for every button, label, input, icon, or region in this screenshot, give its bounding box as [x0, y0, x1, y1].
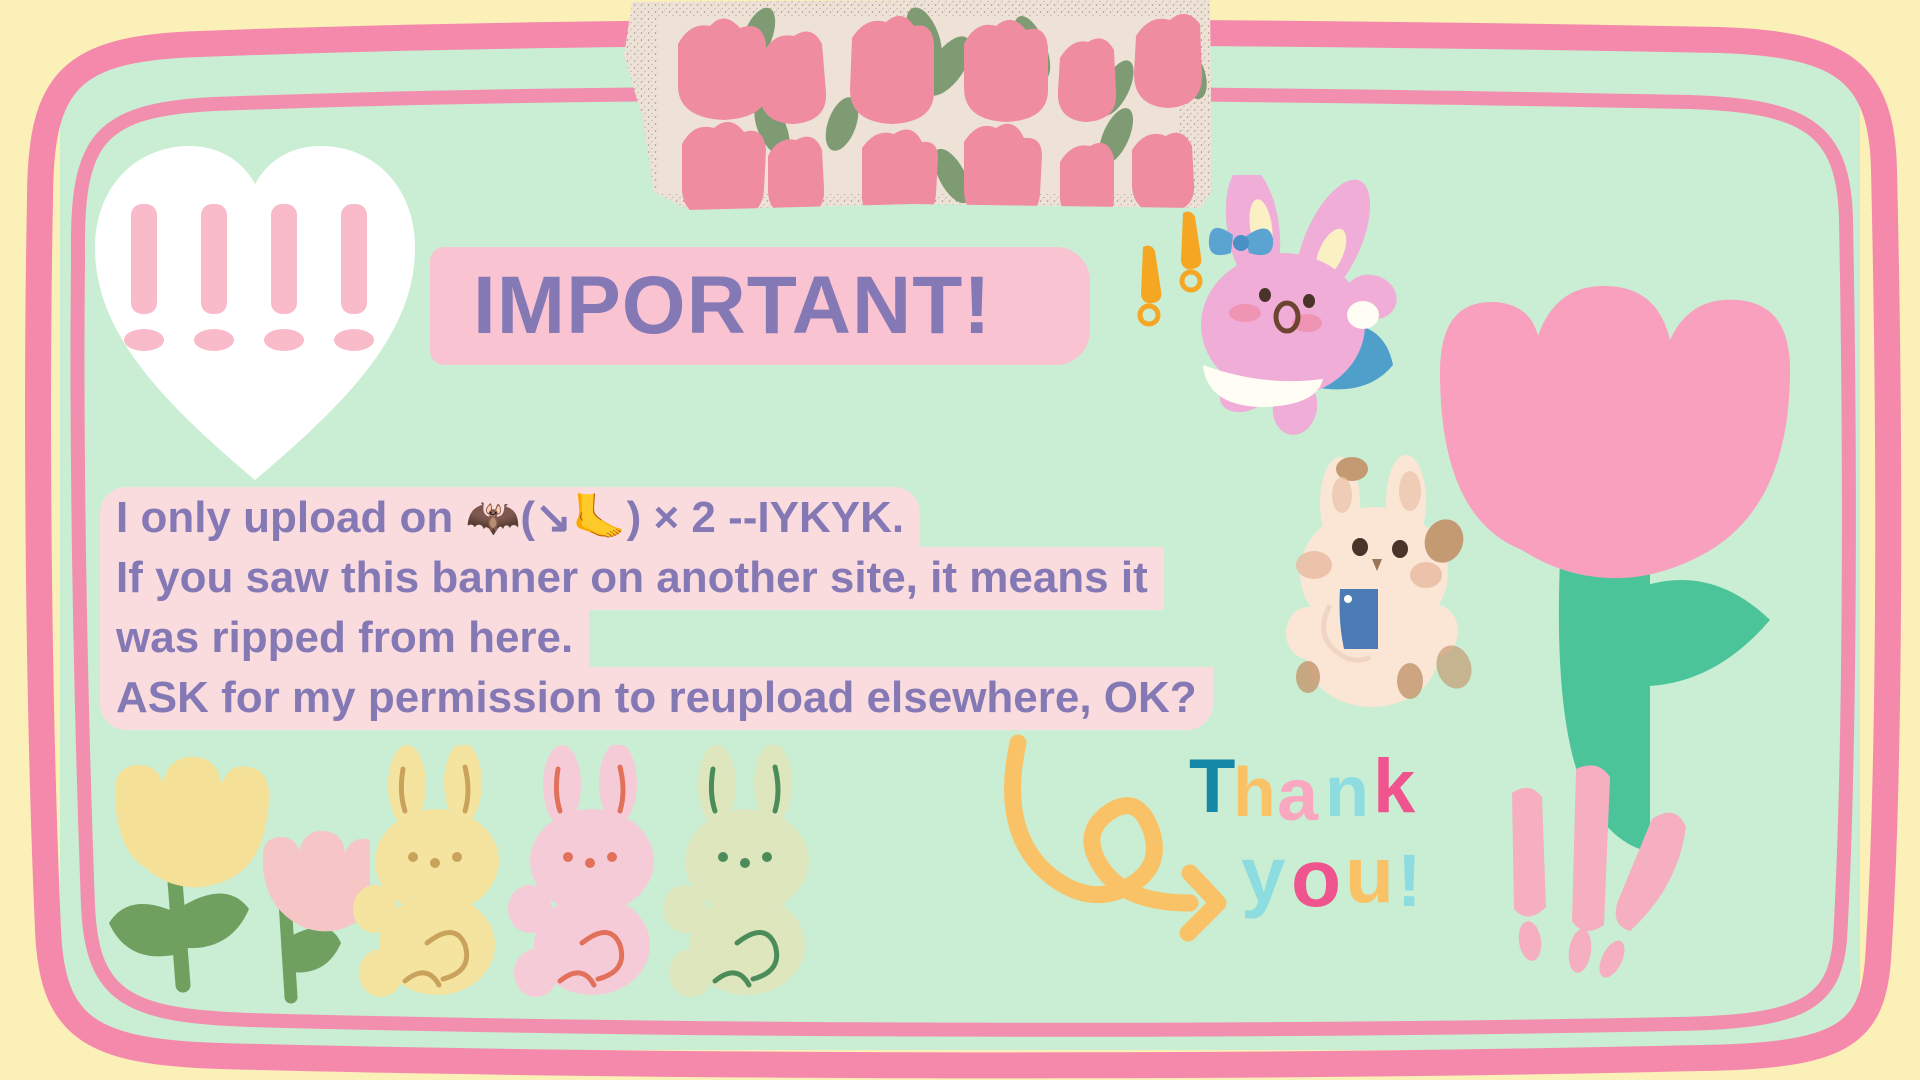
thankyou-letter: a [1277, 753, 1319, 836]
page-title: IMPORTANT! [473, 265, 992, 347]
thankyou-letter: ! [1397, 839, 1422, 922]
thankyou-letter: u [1345, 830, 1394, 919]
notice-text-block: I only upload on 🦇(↘🦶) × 2 --IYKYK. If y… [100, 488, 1210, 728]
small-tulips-group [95, 755, 370, 1005]
thankyou-letter: o [1291, 833, 1341, 924]
white-heart-with-exclamations [85, 128, 425, 488]
notice-line: If you saw this banner on another site, … [100, 548, 1210, 608]
thankyou-letter: n [1325, 752, 1369, 832]
notice-line: I only upload on 🦇(↘🦶) × 2 --IYKYK. [100, 488, 1210, 548]
thankyou-letter: T [1189, 750, 1235, 829]
notice-line-text: was ripped from here. [100, 607, 589, 670]
notice-line: was ripped from here. [100, 608, 1210, 668]
notice-line-text: If you saw this banner on another site, … [100, 547, 1164, 610]
green-gummy-bunny [655, 745, 845, 1005]
yellow-tulip [109, 757, 269, 985]
pink-exclamation-marks [1490, 765, 1720, 985]
flying-pink-bunny [1125, 175, 1425, 475]
thankyou-letter: y [1241, 830, 1286, 919]
notice-line-text: I only upload on 🦇(↘🦶) × 2 --IYKYK. [100, 487, 920, 550]
thankyou-letter: h [1233, 753, 1276, 831]
thankyou-letter: k [1373, 750, 1416, 829]
thank-you-lettering: T h a n k y o u ! [1185, 750, 1505, 930]
banner-canvas: IMPORTANT! I only upload on 🦇(↘🦶) × 2 --… [0, 0, 1920, 1080]
